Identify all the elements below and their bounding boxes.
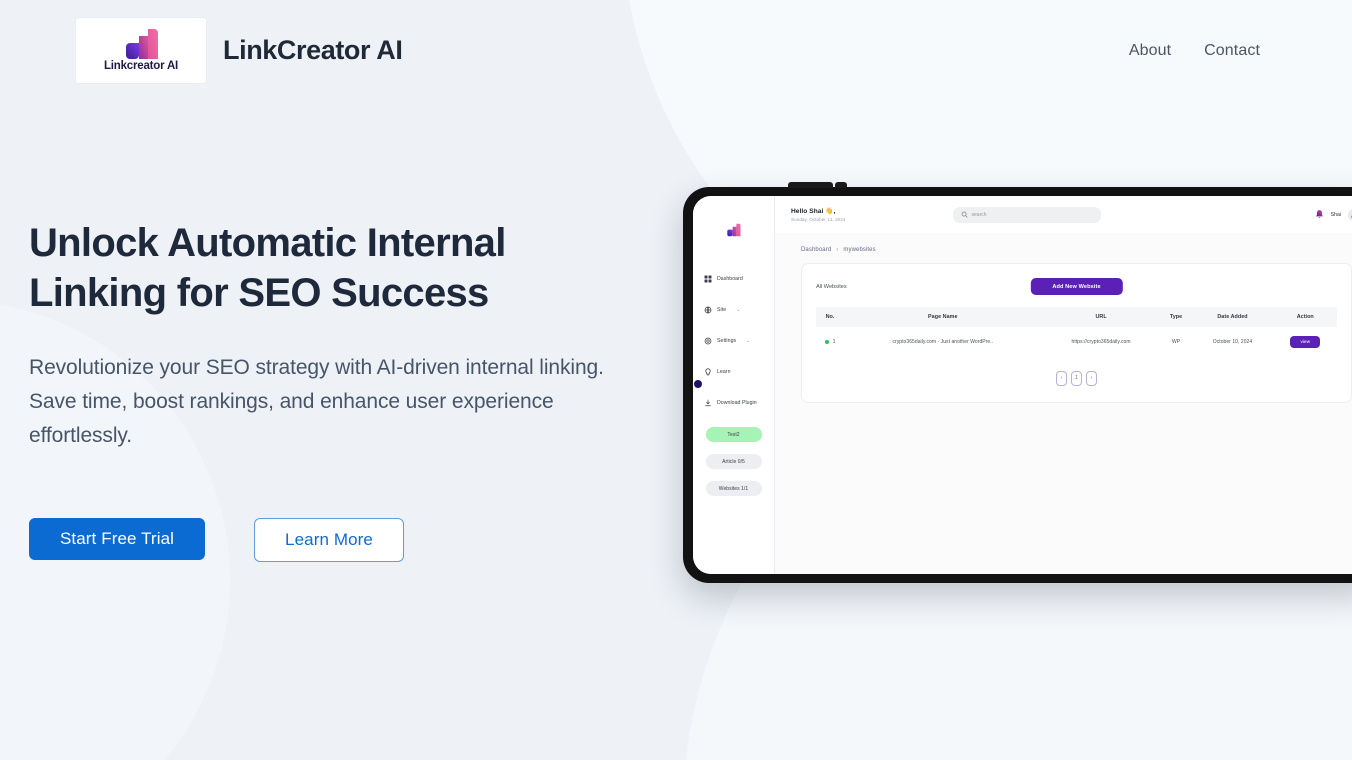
sidebar-pill-article-quota[interactable]: Article 0/5 [706,454,762,469]
greeting-date: Sunday, October 13, 2024 [791,217,846,222]
tablet-camera-notch [788,182,833,188]
tablet-screen: Dashboard Site ⌄ Settings [693,196,1352,574]
panel-title: All Websites [816,284,847,290]
gear-icon [704,337,712,345]
hero-cta-group: Start Free Trial Learn More [29,518,649,562]
column-header-url: URL [1042,307,1161,327]
websites-table: No. Page Name URL Type Date Added Action [816,307,1337,357]
sidebar-item-download-plugin[interactable]: Download Plugin [704,396,774,410]
tablet-sensor-notch [835,182,847,188]
cell-url: https://crypto365daily.com [1042,327,1161,357]
sidebar-item-dashboard[interactable]: Dashboard [704,272,774,286]
pagination: ‹ 1 › [816,371,1337,386]
brand-logo[interactable]: Linkcreator AI LinkCreator AI [76,18,402,83]
pagination-next-button[interactable]: › [1086,371,1097,386]
chevron-down-icon: ⌄ [736,307,740,313]
logo-badge: Linkcreator AI [76,18,206,83]
avatar[interactable] [1348,209,1352,221]
pagination-page-1-button[interactable]: 1 [1071,371,1082,386]
column-header-no: No. [816,307,844,327]
cell-page-name: crypto365daily.com - Just another WordPr… [844,327,1042,357]
logo-bars-icon [118,29,164,59]
learn-more-button[interactable]: Learn More [254,518,404,562]
column-header-action: Action [1274,307,1338,327]
add-new-website-button[interactable]: Add New Website [1030,278,1122,295]
sidebar-pill-websites-quota[interactable]: Websites 1/1 [706,481,762,496]
view-button[interactable]: view [1290,336,1320,348]
sidebar-label-download-plugin: Download Plugin [717,400,757,406]
column-header-page-name: Page Name [844,307,1042,327]
cell-no: 1 [816,327,844,357]
site-header: Linkcreator AI LinkCreator AI About Cont… [0,0,1352,101]
column-header-type: Type [1161,307,1192,327]
chevron-down-icon: ⌄ [746,338,750,344]
download-icon [704,399,712,407]
search-placeholder: search [972,212,987,218]
app-sidebar-nav: Dashboard Site ⌄ Settings [693,272,774,427]
nav-link-about[interactable]: About [1129,42,1171,60]
search-input[interactable]: search [953,207,1101,223]
breadcrumb: Dashboard › mywebsites [801,247,1352,253]
cell-type: WP [1161,327,1192,357]
hero-title-line1: Unlock Automatic Internal [29,221,506,265]
breadcrumb-current: mywebsites [843,247,875,253]
panel-header: All Websites Add New Website [816,278,1337,295]
topbar-user-name: Shai [1331,212,1341,218]
notification-bell-icon[interactable] [1315,209,1324,220]
tablet-frame: Dashboard Site ⌄ Settings [683,187,1352,583]
table-header: No. Page Name URL Type Date Added Action [816,307,1337,327]
sidebar-label-site: Site [717,307,726,313]
table-header-row: No. Page Name URL Type Date Added Action [816,307,1337,327]
logo-badge-text: Linkcreator AI [104,61,178,73]
sidebar-label-settings: Settings [717,338,736,344]
greeting-text: Hello Shai 👋, [791,207,846,215]
app-sidebar: Dashboard Site ⌄ Settings [693,196,775,574]
globe-icon [704,306,712,314]
table-body: 1 crypto365daily.com - Just another Word… [816,327,1337,357]
sidebar-item-settings[interactable]: Settings ⌄ [704,334,774,348]
app-topbar: Hello Shai 👋, Sunday, October 13, 2024 s… [775,196,1352,233]
hero-copy: Unlock Automatic Internal Linking for SE… [29,101,649,562]
status-badge [825,340,829,344]
cell-date-added: October 10, 2024 [1191,327,1273,357]
column-header-date-added: Date Added [1191,307,1273,327]
search-icon [961,211,968,218]
nav-link-contact[interactable]: Contact [1204,42,1260,60]
websites-panel: All Websites Add New Website No. Page Na… [801,263,1352,403]
grid-icon [704,275,712,283]
greeting-block: Hello Shai 👋, Sunday, October 13, 2024 [791,207,846,222]
hero-title: Unlock Automatic Internal Linking for SE… [29,218,649,318]
sidebar-item-site[interactable]: Site ⌄ [704,303,774,317]
breadcrumb-root[interactable]: Dashboard [801,247,831,253]
row-number-wrap: 1 [818,339,842,345]
lightbulb-icon [704,368,712,376]
sidebar-item-learn[interactable]: Learn [704,365,774,379]
pagination-prev-button[interactable]: ‹ [1056,371,1067,386]
product-screenshot-mockup: Dashboard Site ⌄ Settings [683,187,1352,583]
cell-action: view [1274,327,1338,357]
sidebar-label-dashboard: Dashboard [717,276,743,282]
sidebar-pill-test2[interactable]: Test2 [706,427,762,442]
app-content-area: Dashboard › mywebsites All Websites Add … [775,233,1352,574]
app-logo-icon [724,222,743,238]
start-free-trial-button[interactable]: Start Free Trial [29,518,205,560]
hero-title-line2: Linking for SEO Success [29,271,489,315]
main-navigation: About Contact [1129,42,1260,60]
breadcrumb-separator-icon: › [836,247,838,253]
hero-subtitle: Revolutionize your SEO strategy with AI-… [29,351,619,453]
table-row: 1 crypto365daily.com - Just another Word… [816,327,1337,357]
active-indicator-dot [694,380,702,388]
brand-name: LinkCreator AI [223,35,402,66]
row-number: 1 [833,339,836,345]
topbar-right: Shai [1315,209,1352,221]
sidebar-label-learn: Learn [717,369,731,375]
app-main: Hello Shai 👋, Sunday, October 13, 2024 s… [775,196,1352,574]
